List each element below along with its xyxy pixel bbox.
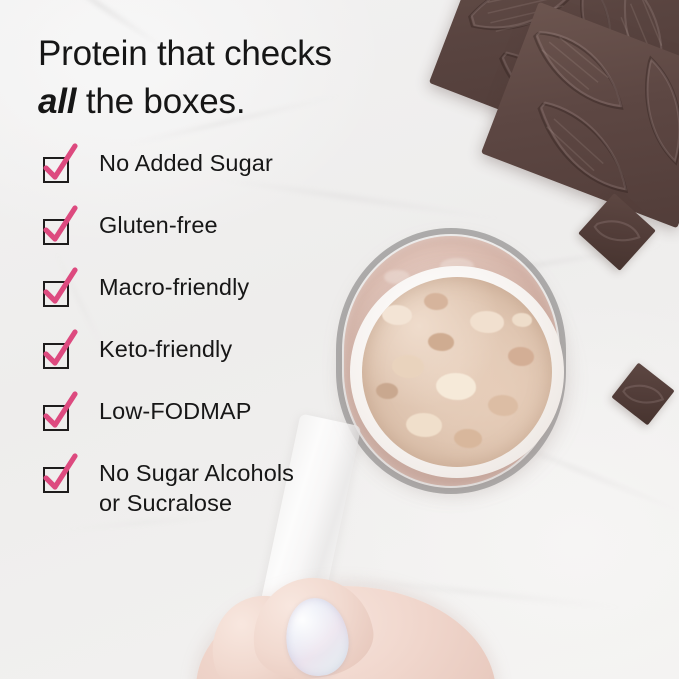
checked-checkbox-icon [40, 400, 72, 432]
headline-line-1: Protein that checks [38, 34, 332, 73]
list-item-label: No Sugar Alcohols or Sucralose [99, 458, 294, 518]
checked-checkbox-icon [40, 338, 72, 370]
list-item: Low-FODMAP [40, 396, 370, 458]
checked-checkbox-icon [40, 214, 72, 246]
protein-powder [362, 277, 552, 467]
checked-checkbox-icon [40, 462, 72, 494]
list-item-label: Low-FODMAP [99, 396, 251, 426]
list-item: No Added Sugar [40, 148, 370, 210]
list-item: Gluten-free [40, 210, 370, 272]
list-item-label: Keto-friendly [99, 334, 232, 364]
feature-checklist: No Added Sugar Gluten-free Macro-friendl… [40, 148, 370, 536]
checked-checkbox-icon [40, 152, 72, 184]
list-item: Keto-friendly [40, 334, 370, 396]
page-title: Protein that checks all the boxes. [38, 30, 458, 125]
checked-checkbox-icon [40, 276, 72, 308]
headline-emphasis: all [38, 82, 76, 121]
list-item-label: Macro-friendly [99, 272, 249, 302]
scoop-cup [350, 266, 564, 478]
headline-line-2: the boxes. [76, 82, 245, 121]
product-lifestyle-image: Protein that checks all the boxes. No Ad… [0, 0, 679, 679]
list-item-label: Gluten-free [99, 210, 218, 240]
list-item: No Sugar Alcohols or Sucralose [40, 458, 370, 536]
list-item: Macro-friendly [40, 272, 370, 334]
list-item-label: No Added Sugar [99, 148, 273, 178]
